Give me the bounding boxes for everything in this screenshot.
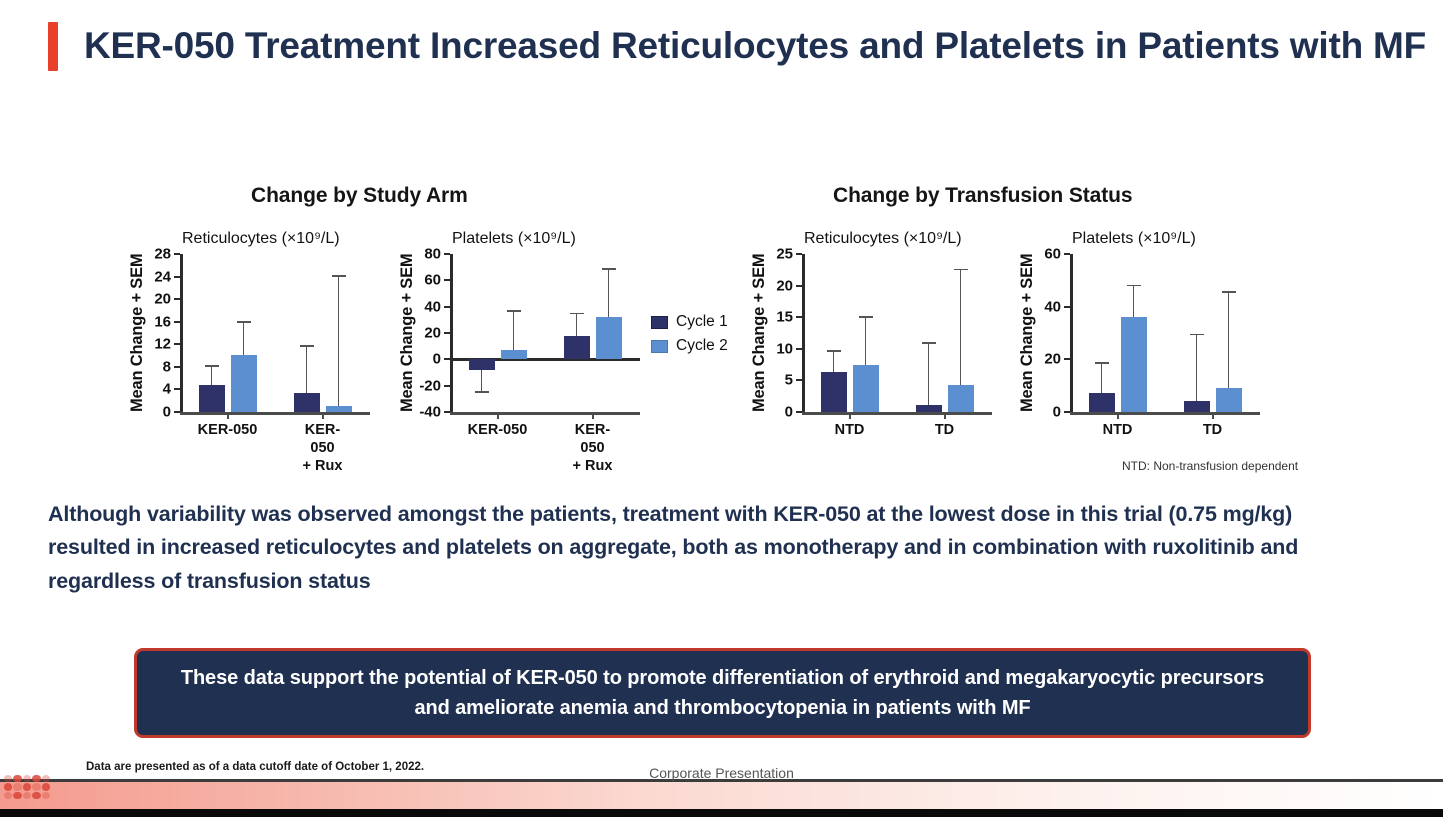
chart-x-tick (849, 412, 851, 419)
slide-title-block: KER-050 Treatment Increased Reticulocyte… (48, 22, 1428, 71)
chart-bar (469, 359, 495, 370)
chart-y-tick (796, 316, 802, 318)
chart-y-axis-label: Mean Change + SEM (1018, 254, 1037, 412)
chart-x-category-label: KER-050 + Rux (295, 421, 351, 475)
chart-error-cap (954, 269, 968, 271)
chart-error-cap (859, 316, 873, 318)
chart-error-cap (1095, 362, 1109, 364)
chart-error-cap (1190, 334, 1204, 336)
chart-x-category-label: KER-050 + Rux (565, 421, 621, 475)
chart-error-bar (1133, 285, 1135, 318)
chart-error-bar (1196, 334, 1198, 401)
chart-y-tick-label: 0 (750, 404, 793, 421)
chart-error-bar (960, 269, 962, 385)
chart-y-tick (444, 279, 450, 281)
chart-bar (1121, 317, 1147, 412)
chart-x-tick (1212, 412, 1214, 419)
chart-error-bar (576, 313, 578, 337)
chart-y-tick-label: 0 (398, 351, 441, 368)
chart-footnote-ntd: NTD: Non-transfusion dependent (1122, 459, 1298, 473)
chart-y-tick (1064, 358, 1070, 360)
chart-x-axis (180, 412, 370, 415)
slide: KER-050 Treatment Increased Reticulocyte… (0, 0, 1443, 817)
chart-x-tick (227, 412, 229, 419)
chart-y-tick (174, 276, 180, 278)
chart-y-tick (174, 366, 180, 368)
chart-y-tick-label: 28 (128, 246, 171, 263)
chart-error-bar (481, 370, 483, 391)
chart-y-tick-label: 10 (750, 340, 793, 357)
callout-text: These data support the potential of KER-… (171, 663, 1274, 723)
chart-y-axis (1070, 254, 1073, 412)
chart-x-tick (497, 412, 499, 419)
chart-error-cap (602, 268, 616, 270)
section-heading-study-arm: Change by Study Arm (251, 184, 468, 208)
chart-y-tick-label: 15 (750, 309, 793, 326)
chart-title: Platelets (×10⁹/L) (452, 230, 576, 248)
chart-y-tick (796, 348, 802, 350)
chart-error-cap (475, 391, 489, 393)
chart-error-cap (570, 313, 584, 315)
chart-bar (821, 372, 847, 412)
chart-y-tick (796, 379, 802, 381)
chart-y-tick (796, 285, 802, 287)
chart-y-tick-label: 40 (398, 298, 441, 315)
chart-y-tick-label: 0 (128, 404, 171, 421)
legend-swatch-cycle-2 (651, 340, 668, 353)
chart-y-tick-label: 20 (1018, 351, 1061, 368)
chart-bar (501, 350, 527, 359)
chart-study-arm-reticulocytes: Reticulocytes (×10⁹/L)Mean Change + SEM0… (128, 228, 378, 458)
chart-y-tick-label: 20 (398, 325, 441, 342)
chart-y-tick-label: -40 (398, 404, 441, 421)
chart-error-bar (1101, 362, 1103, 393)
chart-legend: Cycle 1 Cycle 2 (651, 313, 728, 361)
legend-item-cycle-2: Cycle 2 (651, 337, 728, 355)
chart-title: Platelets (×10⁹/L) (1072, 230, 1196, 248)
chart-error-bar (1228, 291, 1230, 387)
chart-x-category-label: KER-050 (468, 421, 528, 439)
chart-x-tick (944, 412, 946, 419)
chart-error-cap (300, 345, 314, 347)
chart-bar (231, 355, 257, 412)
chart-y-tick (444, 385, 450, 387)
callout-box: These data support the potential of KER-… (134, 648, 1311, 738)
legend-label-cycle-2: Cycle 2 (676, 337, 728, 355)
chart-study-arm-platelets: Platelets (×10⁹/L)Mean Change + SEM-40-2… (398, 228, 648, 458)
chart-transfusion-platelets: Platelets (×10⁹/L)Mean Change + SEM02040… (1018, 228, 1268, 458)
chart-error-cap (507, 310, 521, 312)
chart-x-category-label: TD (935, 421, 954, 439)
chart-error-cap (827, 350, 841, 352)
chart-x-axis (450, 412, 640, 415)
legend-item-cycle-1: Cycle 1 (651, 313, 728, 331)
chart-y-tick (1064, 306, 1070, 308)
chart-error-bar (243, 321, 245, 355)
footer-label: Corporate Presentation (0, 765, 1443, 781)
chart-y-tick (444, 253, 450, 255)
chart-bar (1216, 388, 1242, 412)
chart-y-tick (796, 253, 802, 255)
chart-bar (1184, 401, 1210, 412)
chart-y-tick-label: 4 (128, 381, 171, 398)
chart-y-tick-label: 0 (1018, 404, 1061, 421)
chart-error-cap (205, 365, 219, 367)
chart-x-category-label: TD (1203, 421, 1222, 439)
chart-y-tick-label: 16 (128, 313, 171, 330)
chart-error-cap (237, 321, 251, 323)
chart-x-category-label: NTD (1103, 421, 1133, 439)
chart-bar (916, 405, 942, 412)
chart-y-tick (444, 332, 450, 334)
footer-black-strip (0, 809, 1443, 817)
chart-x-tick (322, 412, 324, 419)
legend-label-cycle-1: Cycle 1 (676, 313, 728, 331)
chart-y-tick-label: 8 (128, 358, 171, 375)
chart-x-tick (1117, 412, 1119, 419)
chart-y-axis (180, 254, 183, 412)
chart-error-cap (1127, 285, 1141, 287)
chart-y-tick (174, 298, 180, 300)
chart-y-tick (174, 388, 180, 390)
chart-error-cap (332, 275, 346, 277)
chart-bar (596, 317, 622, 359)
company-logo-icon (4, 775, 50, 799)
chart-error-bar (608, 268, 610, 317)
chart-error-bar (833, 350, 835, 371)
chart-error-cap (922, 342, 936, 344)
chart-y-tick-label: 25 (750, 246, 793, 263)
chart-y-tick-label: 60 (1018, 246, 1061, 263)
chart-y-tick-label: 80 (398, 246, 441, 263)
chart-y-tick-label: 40 (1018, 298, 1061, 315)
page-title: KER-050 Treatment Increased Reticulocyte… (84, 22, 1426, 71)
chart-x-axis (1070, 412, 1260, 415)
chart-x-category-label: NTD (835, 421, 865, 439)
chart-y-tick-label: 20 (128, 291, 171, 308)
chart-x-axis (802, 412, 992, 415)
chart-title: Reticulocytes (×10⁹/L) (182, 230, 340, 248)
chart-bar (564, 336, 590, 359)
chart-x-tick (592, 412, 594, 419)
chart-bar (326, 406, 352, 412)
chart-error-bar (338, 275, 340, 406)
chart-y-tick (174, 253, 180, 255)
chart-error-bar (513, 310, 515, 350)
chart-transfusion-reticulocytes: Reticulocytes (×10⁹/L)Mean Change + SEM0… (750, 228, 1000, 458)
chart-y-tick (1064, 253, 1070, 255)
chart-bar (853, 365, 879, 412)
chart-y-tick-label: -20 (398, 377, 441, 394)
chart-y-tick (174, 343, 180, 345)
footer-gradient-bar (0, 782, 1443, 809)
chart-error-bar (928, 342, 930, 405)
chart-bar (1089, 393, 1115, 412)
chart-y-tick-label: 24 (128, 268, 171, 285)
chart-error-cap (1222, 291, 1236, 293)
chart-title: Reticulocytes (×10⁹/L) (804, 230, 962, 248)
chart-y-tick-label: 20 (750, 277, 793, 294)
section-heading-transfusion-status: Change by Transfusion Status (833, 184, 1132, 208)
chart-y-axis (802, 254, 805, 412)
chart-y-tick-label: 5 (750, 372, 793, 389)
chart-y-tick-label: 60 (398, 272, 441, 289)
chart-error-bar (306, 345, 308, 392)
chart-bar (948, 385, 974, 412)
chart-y-tick (444, 306, 450, 308)
chart-y-tick-label: 12 (128, 336, 171, 353)
chart-bar (294, 393, 320, 412)
chart-y-tick (174, 321, 180, 323)
chart-error-bar (865, 316, 867, 365)
chart-y-axis (450, 254, 453, 412)
title-accent-bar (48, 22, 58, 71)
chart-error-bar (211, 365, 213, 385)
body-paragraph: Although variability was observed amongs… (48, 498, 1338, 598)
legend-swatch-cycle-1 (651, 316, 668, 329)
chart-bar (199, 385, 225, 412)
chart-x-category-label: KER-050 (198, 421, 258, 439)
